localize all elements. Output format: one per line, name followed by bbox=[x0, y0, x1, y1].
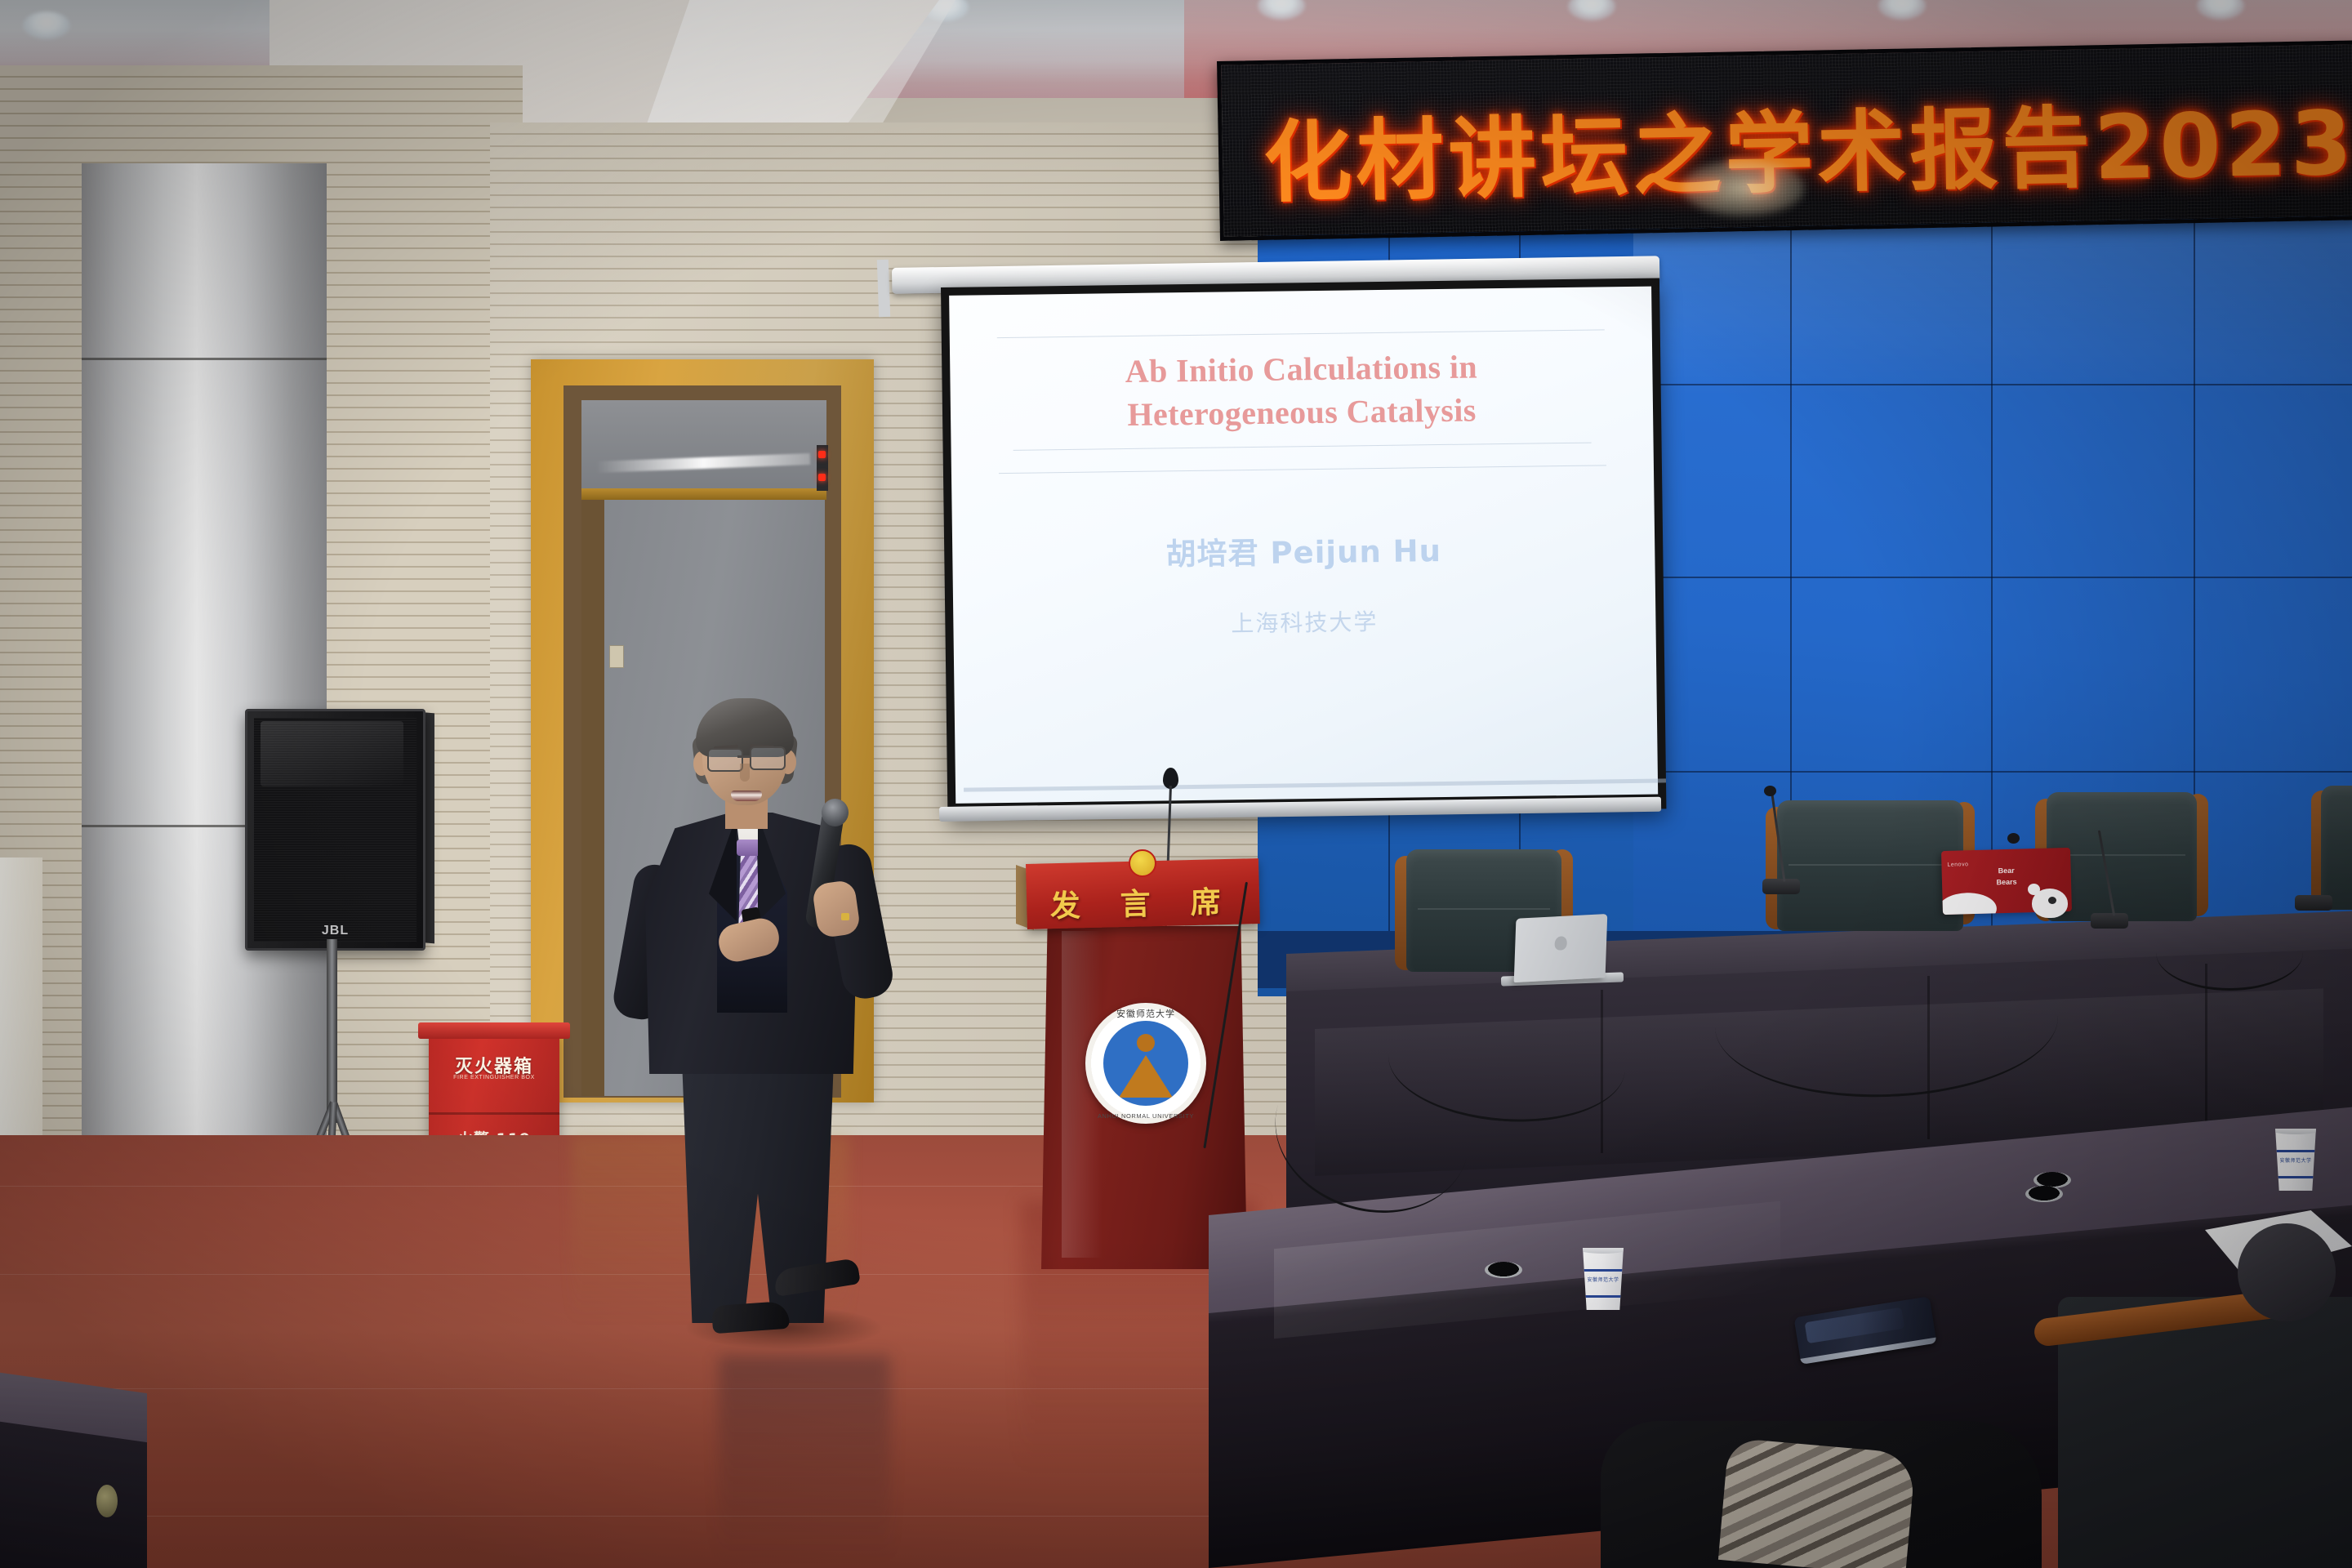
ring-icon bbox=[841, 913, 849, 920]
loudspeaker-brand-label: JBL bbox=[247, 924, 423, 938]
fire-box-lid bbox=[418, 1022, 570, 1039]
led-banner: 化材讲坛之学术报告2023 bbox=[1217, 40, 2352, 241]
attendee-scarf bbox=[1718, 1437, 1916, 1568]
presenter-tie-knot bbox=[737, 840, 761, 856]
seal-disc bbox=[1103, 1021, 1188, 1106]
cup-logo-text: 安徽师范大学 bbox=[1579, 1276, 1627, 1283]
lecture-hall-photo: 化材讲坛之学术报告2023 Ab Initio Calculations in … bbox=[0, 0, 2352, 1568]
led-banner-glare bbox=[1682, 159, 1805, 216]
slide-surface: Ab Initio Calculations in Heterogeneous … bbox=[949, 287, 1658, 804]
seal-chinese-text: 安徽师范大学 bbox=[1085, 1007, 1206, 1020]
cup-band bbox=[1579, 1269, 1627, 1272]
projection-screen[interactable]: Ab Initio Calculations in Heterogeneous … bbox=[941, 278, 1666, 817]
loudspeaker-sheen bbox=[261, 721, 403, 786]
tile-seam bbox=[1991, 154, 1993, 966]
table-microphone-base[interactable] bbox=[2295, 895, 2332, 911]
desk-cable bbox=[2156, 915, 2303, 991]
slide-title: Ab Initio Calculations in Heterogeneous … bbox=[950, 344, 1653, 439]
slide-divider bbox=[997, 329, 1605, 338]
floor-reflection-presenter bbox=[719, 1356, 890, 1560]
slide-author: 胡培君 Peijun Hu bbox=[952, 523, 1655, 577]
seal-english-text: ANHUI NORMAL UNIVERSITY bbox=[1085, 1112, 1206, 1120]
cup-band bbox=[1579, 1295, 1627, 1298]
apple-logo-icon bbox=[1554, 936, 1567, 951]
exit-led-icon bbox=[818, 451, 826, 458]
seal-dot-icon bbox=[1137, 1034, 1155, 1052]
screen-mount-bracket bbox=[877, 260, 890, 317]
podium-emblem-icon bbox=[1129, 849, 1156, 877]
eyeglasses-bridge bbox=[737, 755, 751, 758]
ceiling-spotlight-icon bbox=[23, 11, 70, 39]
left-table-reflection bbox=[96, 1485, 118, 1517]
door-latch[interactable] bbox=[609, 645, 624, 668]
floor-seam bbox=[0, 1516, 1225, 1517]
phone-screen bbox=[1805, 1307, 1905, 1343]
exit-led-icon bbox=[818, 474, 826, 481]
door-mullion bbox=[581, 488, 826, 500]
chair-crease bbox=[1788, 864, 1952, 866]
door-transom-window bbox=[581, 400, 826, 490]
column-band bbox=[82, 358, 327, 360]
cup-logo-text: 安徽师范大学 bbox=[2272, 1156, 2319, 1164]
table-microphone-icon bbox=[2007, 833, 2020, 844]
lenovo-lid-artwork: Bear Bears bbox=[1942, 864, 2072, 889]
cup-band bbox=[2272, 1150, 2319, 1152]
cable-grommet bbox=[2025, 1186, 2063, 1202]
paper-cup[interactable]: 安徽师范大学 bbox=[1579, 1248, 1627, 1310]
podium-label: 发 言 席 bbox=[1026, 876, 1259, 926]
door-jamb bbox=[581, 500, 604, 1096]
fire-box-title-en: FIRE EXTINGUISHER BOX bbox=[429, 1075, 559, 1080]
eyeglasses-icon bbox=[707, 748, 743, 772]
slide-divider bbox=[1013, 443, 1592, 451]
slide-title-line2: Heterogeneous Catalysis bbox=[951, 386, 1654, 439]
chair-crease bbox=[2058, 854, 2185, 856]
presenter-mouth bbox=[731, 791, 762, 801]
cable-grommet bbox=[1485, 1262, 1522, 1278]
table-microphone-base[interactable] bbox=[1762, 879, 1800, 894]
paper-cup[interactable]: 安徽师范大学 bbox=[2272, 1129, 2319, 1191]
bear-eye-icon bbox=[2048, 897, 2056, 904]
table-microphone-icon bbox=[1764, 786, 1776, 796]
table-microphone-base[interactable] bbox=[2091, 913, 2128, 929]
cup-band bbox=[2272, 1176, 2319, 1178]
presenter-nose bbox=[740, 764, 750, 782]
eyeglasses-icon bbox=[750, 746, 786, 770]
seal-arch-icon bbox=[1119, 1055, 1173, 1098]
led-banner-text: 化材讲坛之学术报告2023 bbox=[1263, 72, 2352, 219]
slide-bottom-rule bbox=[964, 778, 1666, 791]
speaker-stand-pole bbox=[327, 939, 337, 1123]
macbook-laptop[interactable] bbox=[1514, 914, 1608, 982]
lenovo-art-line2: Bears bbox=[1942, 875, 2071, 889]
loudspeaker-cabinet: JBL bbox=[245, 709, 425, 951]
conference-chair[interactable] bbox=[1777, 800, 1963, 931]
presenter-shoe bbox=[711, 1301, 790, 1334]
fire-box-seam bbox=[429, 1112, 559, 1115]
conference-chair[interactable] bbox=[2321, 786, 2352, 910]
university-seal: 安徽师范大学 ANHUI NORMAL UNIVERSITY bbox=[1085, 1003, 1206, 1124]
slide-affiliation: 上海科技大学 bbox=[953, 601, 1655, 643]
attendee-head bbox=[2238, 1223, 2336, 1321]
chair-crease bbox=[1418, 908, 1550, 910]
slide-divider bbox=[999, 465, 1606, 474]
lenovo-artwork-shape bbox=[1941, 892, 1997, 915]
